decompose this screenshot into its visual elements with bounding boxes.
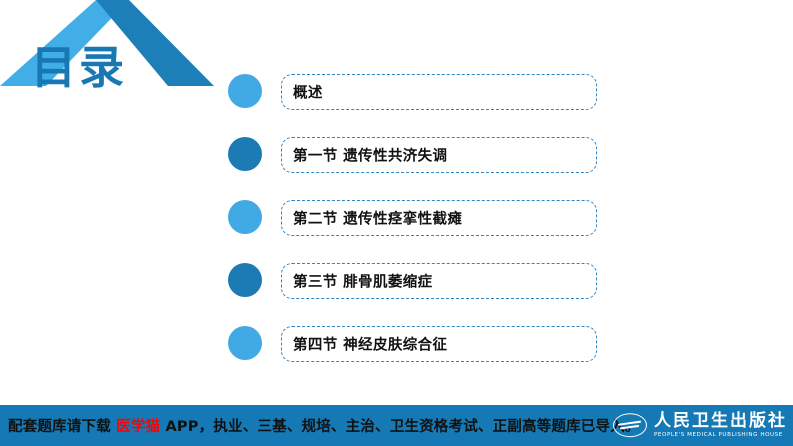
brand-name-cn: 人民卫生出版社	[654, 413, 787, 430]
footer-banner: 配套题库请下载 医学猫 APP，执业、三基、规培、主治、卫生资格考试、正副高等题…	[0, 405, 793, 446]
toc-item-box[interactable]: 第三节 腓骨肌萎缩症	[281, 263, 597, 299]
list-item[interactable]: 第一节 遗传性共济失调	[228, 131, 608, 194]
bullet-circle-icon	[228, 326, 262, 360]
bullet-circle-icon	[228, 200, 262, 234]
brand-wordmark: 人民卫生出版社 PEOPLE'S MEDICAL PUBLISHING HOUS…	[654, 413, 787, 439]
pmph-oval-logo-icon	[613, 414, 647, 438]
toc-item-label: 第四节 神经皮肤综合征	[293, 334, 447, 355]
footer-text-after: APP，执业、三基、规培、主治、卫生资格考试、正副高等题库已导入。	[160, 419, 639, 435]
publisher-brand: 人民卫生出版社 PEOPLE'S MEDICAL PUBLISHING HOUS…	[613, 413, 787, 439]
list-item[interactable]: 第三节 腓骨肌萎缩症	[228, 257, 608, 320]
toc-item-label: 概述	[293, 82, 323, 103]
footer-app-name: 医学猫	[116, 419, 160, 435]
list-item[interactable]: 第二节 遗传性痉挛性截瘫	[228, 194, 608, 257]
title-block: 目录	[0, 0, 230, 110]
toc-item-box[interactable]: 第四节 神经皮肤综合征	[281, 326, 597, 362]
bullet-circle-icon	[228, 263, 262, 297]
list-item[interactable]: 第四节 神经皮肤综合征	[228, 320, 608, 383]
page-title: 目录	[31, 45, 127, 90]
toc-item-label: 第二节 遗传性痉挛性截瘫	[293, 208, 462, 229]
toc-list: 概述 第一节 遗传性共济失调 第二节 遗传性痉挛性截瘫 第三节 腓骨肌萎缩症	[228, 68, 608, 383]
list-item[interactable]: 概述	[228, 68, 608, 131]
brand-name-en: PEOPLE'S MEDICAL PUBLISHING HOUSE	[654, 433, 787, 439]
slide-canvas: 目录 概述 第一节 遗传性共济失调 第二节 遗传性痉挛性截瘫 第三节 腓骨肌萎	[0, 0, 793, 446]
toc-item-box[interactable]: 概述	[281, 74, 597, 110]
bullet-circle-icon	[228, 74, 262, 108]
toc-item-label: 第一节 遗传性共济失调	[293, 145, 447, 166]
bullet-circle-icon	[228, 137, 262, 171]
toc-item-box[interactable]: 第二节 遗传性痉挛性截瘫	[281, 200, 597, 236]
footer-promo-text: 配套题库请下载 医学猫 APP，执业、三基、规培、主治、卫生资格考试、正副高等题…	[8, 415, 640, 436]
toc-item-box[interactable]: 第一节 遗传性共济失调	[281, 137, 597, 173]
footer-text-before: 配套题库请下载	[8, 419, 116, 435]
toc-item-label: 第三节 腓骨肌萎缩症	[293, 271, 433, 292]
